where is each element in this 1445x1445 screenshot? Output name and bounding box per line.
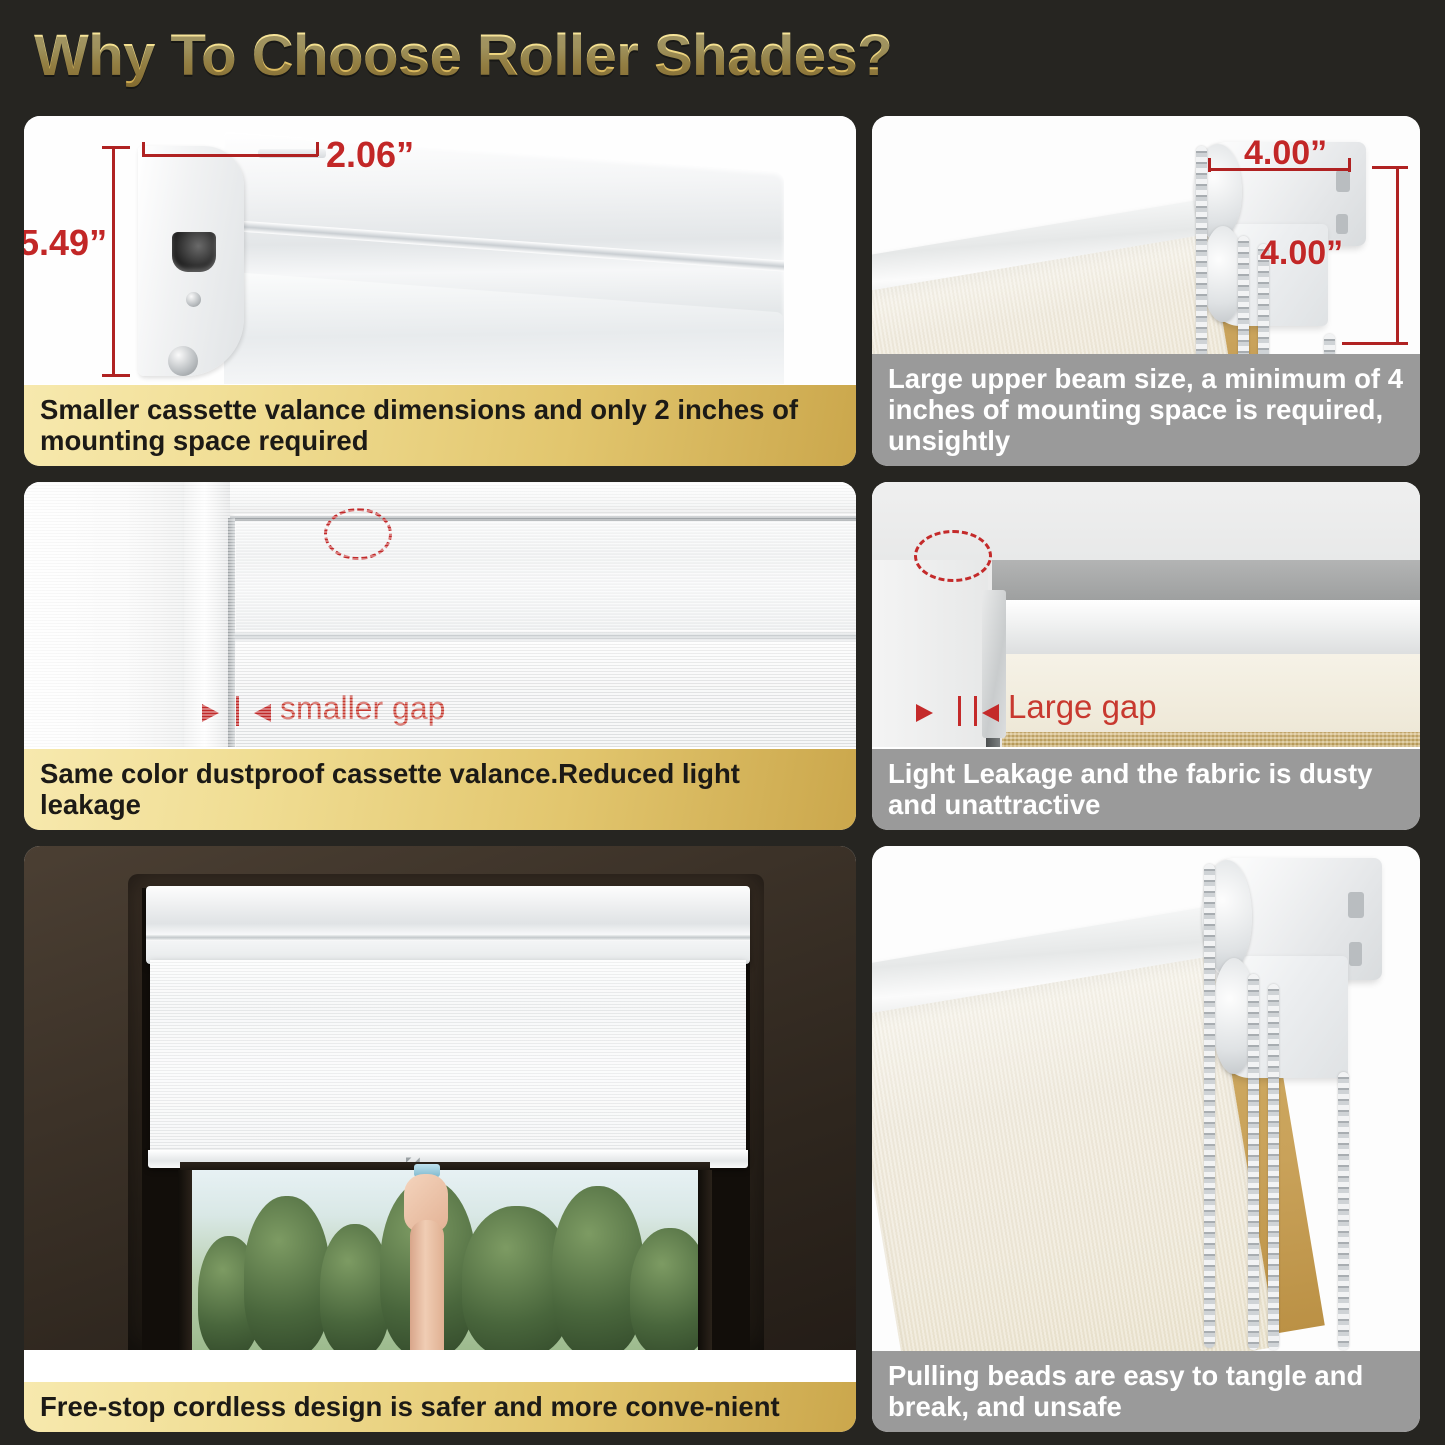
beam-width-label: 4.00” bbox=[1244, 134, 1327, 173]
upper-beam bbox=[992, 600, 1420, 660]
height-tick-bottom bbox=[102, 374, 130, 377]
cassette-valance bbox=[146, 886, 750, 964]
bead-chain-middle bbox=[1248, 974, 1259, 1350]
window-reveal: ◤ ◢ bbox=[128, 874, 764, 1350]
window-casing bbox=[184, 482, 230, 747]
panel-4-caption: Light Leakage and the fabric is dusty an… bbox=[872, 749, 1420, 830]
width-dimension-label: 2.06” bbox=[326, 134, 414, 176]
screw-lower-icon bbox=[168, 346, 198, 376]
highlight-circle-annotation bbox=[324, 508, 392, 560]
panel-large-upper-beam: 4.00” 4.00” Large upper beam size, a min… bbox=[872, 116, 1420, 466]
window-mullion-right bbox=[698, 1170, 712, 1350]
valance-top-seam bbox=[230, 516, 856, 521]
panel-3-photo: smaller gap bbox=[24, 482, 856, 747]
bead-chain-far-right bbox=[1338, 1072, 1349, 1350]
cassette-valance-face bbox=[236, 520, 856, 632]
screw-upper-icon bbox=[186, 292, 201, 307]
shade-side-edge bbox=[228, 518, 235, 747]
panel-cassette-valance-dimensions: 2.06” 5.49” Smaller cassette valance dim… bbox=[24, 116, 856, 466]
comparison-grid: 2.06” 5.49” Smaller cassette valance dim… bbox=[0, 110, 1445, 1445]
bracket-notch-b bbox=[1336, 214, 1348, 234]
width-tick-right bbox=[316, 142, 319, 156]
smaller-gap-label: smaller gap bbox=[280, 690, 445, 727]
gap-marker-line-a bbox=[958, 696, 961, 726]
tree-shape bbox=[244, 1196, 330, 1350]
panel-6-photo bbox=[872, 846, 1420, 1351]
panel-2-photo: 4.00” 4.00” bbox=[872, 116, 1420, 378]
beam-width-tick-left bbox=[1208, 158, 1211, 172]
bracket-notch-a bbox=[1336, 170, 1350, 192]
highlight-circle-annotation bbox=[914, 530, 992, 582]
tree-shape bbox=[552, 1186, 644, 1350]
beam-height-label: 4.00” bbox=[1260, 234, 1343, 273]
page-title: Why To Choose Roller Shades? bbox=[34, 22, 892, 89]
infographic-page: Why To Choose Roller Shades? 2.06” bbox=[0, 0, 1445, 1445]
panel-4-photo: Large gap bbox=[872, 482, 1420, 747]
window-mullion-left bbox=[178, 1170, 192, 1350]
bracket-notch-a bbox=[1348, 892, 1364, 918]
interior-wall bbox=[24, 482, 194, 747]
roller-slot bbox=[172, 232, 216, 272]
panel-1-photo: 2.06” 5.49” bbox=[24, 116, 856, 384]
gap-arrow-left-icon bbox=[202, 704, 219, 722]
gap-arrow-left-icon bbox=[916, 704, 933, 722]
panel-free-stop-cordless-design: ◤ ◢ bbox=[24, 846, 856, 1432]
beam-height-tick-top bbox=[1372, 166, 1408, 169]
beam-height-tick-bottom bbox=[1342, 342, 1408, 345]
panel-5-caption: Free-stop cordless design is safer and m… bbox=[24, 1382, 856, 1432]
scene-backdrop bbox=[24, 482, 856, 747]
height-dimension-line bbox=[112, 146, 115, 376]
panel-dustproof-cassette-valance: smaller gap Same color dustproof cassett… bbox=[24, 482, 856, 830]
bead-chain-left bbox=[1196, 146, 1207, 378]
gap-marker-line bbox=[236, 696, 239, 726]
tan-shade-fabric bbox=[1002, 732, 1420, 747]
gap-marker-line-b bbox=[974, 696, 977, 726]
valance-divider-bar bbox=[232, 630, 856, 643]
window-head-trim bbox=[230, 482, 856, 514]
panel-6-caption: Pulling beads are easy to tangle and bre… bbox=[872, 1351, 1420, 1432]
beam-height-line bbox=[1396, 166, 1399, 344]
bracket-notch-b bbox=[1349, 942, 1362, 966]
roller-shade-fabric bbox=[150, 960, 746, 1158]
height-dimension-label: 5.49” bbox=[24, 222, 107, 264]
panel-pulling-beads-tangle: Pulling beads are easy to tangle and bre… bbox=[872, 846, 1420, 1432]
panel-2-caption: Large upper beam size, a minimum of 4 in… bbox=[872, 354, 1420, 466]
panel-1-caption: Smaller cassette valance dimensions and … bbox=[24, 385, 856, 466]
width-dimension-line bbox=[142, 154, 318, 157]
width-tick-left bbox=[142, 142, 145, 156]
valance-end-cap bbox=[138, 146, 244, 376]
page-header: Why To Choose Roller Shades? bbox=[0, 0, 1445, 110]
beam-width-tick-right bbox=[1348, 158, 1351, 172]
shade-fabric-body bbox=[236, 642, 856, 747]
height-tick-top bbox=[102, 146, 130, 149]
panel-5-photo: ◤ ◢ bbox=[24, 846, 856, 1350]
gap-arrow-right-icon bbox=[254, 704, 271, 722]
panel-3-caption: Same color dustproof cassette valance.Re… bbox=[24, 749, 856, 830]
forearm bbox=[410, 1220, 444, 1350]
tree-shape bbox=[630, 1228, 698, 1350]
large-gap-label: Large gap bbox=[1008, 688, 1157, 726]
gap-arrow-right-icon bbox=[982, 704, 999, 722]
bead-chain-right bbox=[1268, 984, 1279, 1350]
panel-light-leakage-dusty-fabric: Large gap Light Leakage and the fabric i… bbox=[872, 482, 1420, 830]
bead-chain-left bbox=[1204, 864, 1215, 1348]
